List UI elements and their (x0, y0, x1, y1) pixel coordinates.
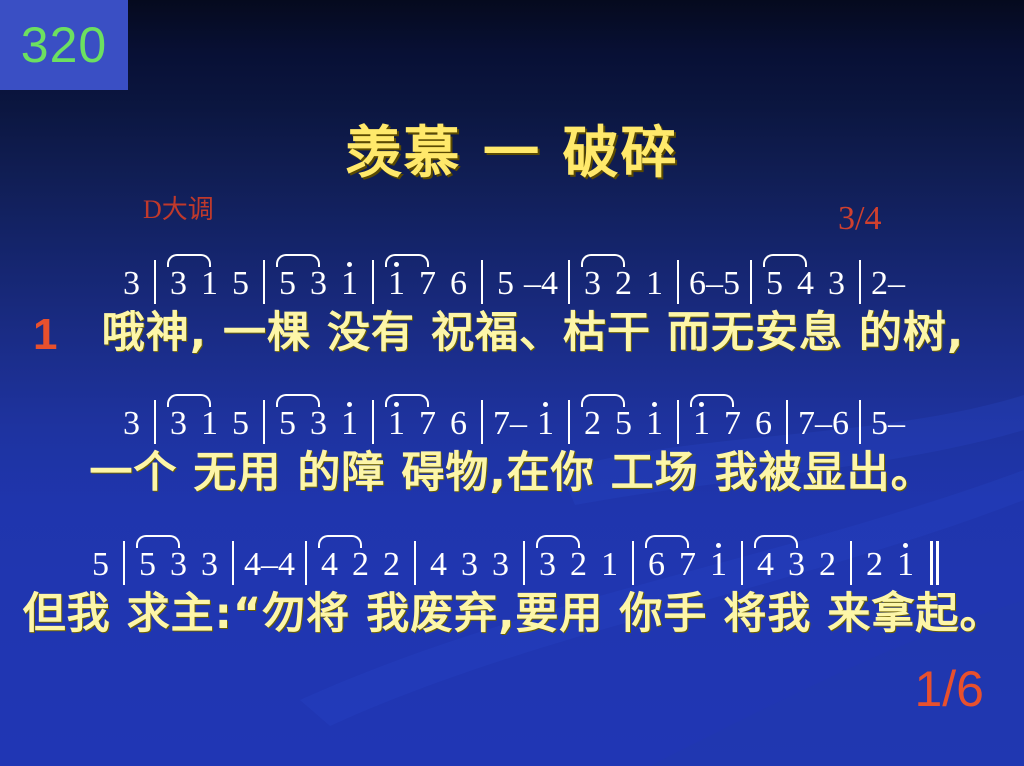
measure: 6–5 (686, 264, 743, 304)
note: 2 (608, 264, 639, 304)
slur-arc (645, 535, 689, 548)
note: 3 (577, 264, 608, 304)
note: 5 (225, 264, 256, 304)
note: 3 (163, 545, 194, 585)
slur-arc (167, 394, 211, 407)
note: 4 (314, 545, 345, 585)
measure: 176 (381, 404, 474, 444)
note-high-octave: 1 (890, 545, 921, 585)
measure: 2– (868, 264, 908, 304)
barline (481, 400, 483, 444)
lyric-row-2: 一个 无用 的障 碍物,在你 工场 我被显出。 (0, 444, 1024, 502)
note: 5 (759, 264, 790, 304)
barline (232, 541, 234, 585)
note: 6 (443, 404, 474, 444)
note: 5 (225, 404, 256, 444)
note-high-octave: 1 (639, 404, 670, 444)
page-title: 羡慕 一 破碎 (0, 108, 1024, 189)
barline (523, 541, 525, 585)
slur-arc (581, 394, 625, 407)
note: 3 (163, 264, 194, 304)
measure: 321 (532, 545, 625, 585)
measure: 176 (686, 404, 779, 444)
barline (372, 400, 374, 444)
slur-arc (536, 535, 580, 548)
note: 4 (423, 545, 454, 585)
measure: 422 (314, 545, 407, 585)
slur-arc (318, 535, 362, 548)
double-barline (927, 541, 939, 585)
slur-arc (136, 535, 180, 548)
note: 3 (116, 264, 147, 304)
music-system-1: 33155311765–43216–55432– 哦神, 一棵 没有 祝福、枯干… (0, 252, 1024, 362)
note: 3 (532, 545, 563, 585)
barline (677, 260, 679, 304)
notation-row-2: 33155311767–12511767–65– (0, 392, 1024, 444)
note: 1 (639, 264, 670, 304)
note: 3 (303, 264, 334, 304)
note: 2 (563, 545, 594, 585)
note: 3 (781, 545, 812, 585)
note: 4 (790, 264, 821, 304)
note: 7–6 (795, 404, 852, 444)
note: 6 (443, 264, 474, 304)
measure: 21 (859, 545, 921, 585)
measure: 433 (423, 545, 516, 585)
time-signature: 3/4 (838, 200, 881, 238)
barline (263, 400, 265, 444)
measure: 176 (381, 264, 474, 304)
barline (677, 400, 679, 444)
barline (850, 541, 852, 585)
note: 6 (748, 404, 779, 444)
hymn-number: 320 (21, 20, 107, 70)
note-high-octave: 1 (703, 545, 734, 585)
lyric-row-1: 哦神, 一棵 没有 祝福、枯干 而无安息 的树, (0, 304, 1024, 362)
hymn-number-badge: 320 (0, 0, 128, 90)
slur-arc (754, 535, 798, 548)
barline (786, 400, 788, 444)
measure: 432 (750, 545, 843, 585)
note: 7 (412, 404, 443, 444)
note: 7 (672, 545, 703, 585)
measure: 251 (577, 404, 670, 444)
measure: 531 (272, 404, 365, 444)
note: 3 (194, 545, 225, 585)
note: 1 (194, 404, 225, 444)
measure: 321 (577, 264, 670, 304)
measure: 7–6 (795, 404, 852, 444)
measure: 4–4 (241, 545, 298, 585)
barline (859, 400, 861, 444)
note: 3 (821, 264, 852, 304)
note: 2 (859, 545, 890, 585)
measure: 315 (163, 404, 256, 444)
barline (632, 541, 634, 585)
slur-arc (763, 254, 807, 267)
barline (568, 400, 570, 444)
measure: 7–1 (490, 404, 561, 444)
note: 7– (490, 404, 530, 444)
slur-arc (385, 254, 429, 267)
note-high-octave: 1 (686, 404, 717, 444)
note: 5 (272, 264, 303, 304)
note-high-octave: 1 (334, 404, 365, 444)
slur-arc (167, 254, 211, 267)
note: 3 (163, 404, 194, 444)
page-indicator: 1/6 (914, 660, 984, 718)
slur-arc (581, 254, 625, 267)
note-high-octave: 1 (334, 264, 365, 304)
barline (568, 260, 570, 304)
note: 2 (577, 404, 608, 444)
note: 5 (490, 264, 521, 304)
barline (154, 260, 156, 304)
lyric-row-3: 但我 求主:“勿将 我废弃,要用 你手 将我 来拿起。 (0, 585, 1024, 643)
barline (414, 541, 416, 585)
note: 6 (641, 545, 672, 585)
slur-arc (690, 394, 734, 407)
note: 7 (412, 264, 443, 304)
measure: 533 (132, 545, 225, 585)
note: 3 (454, 545, 485, 585)
key-signature: D大调 (143, 189, 214, 226)
notation-row-1: 33155311765–43216–55432– (0, 252, 1024, 304)
music-system-2: 33155311767–12511767–65– 一个 无用 的障 碍物,在你 … (0, 392, 1024, 502)
barline (123, 541, 125, 585)
measure: 543 (759, 264, 852, 304)
note-high-octave: 1 (530, 404, 561, 444)
barline (741, 541, 743, 585)
note: 5 (132, 545, 163, 585)
note: 2 (812, 545, 843, 585)
notation-row-3: 55334–442243332167143221 (0, 533, 1024, 585)
note: 4 (750, 545, 781, 585)
barline (263, 260, 265, 304)
slur-arc (385, 394, 429, 407)
slur-arc (276, 394, 320, 407)
note-high-octave: 1 (381, 264, 412, 304)
note: 3 (485, 545, 516, 585)
note-high-octave: 1 (381, 404, 412, 444)
barline (750, 260, 752, 304)
slide-canvas: 320 羡慕 一 破碎 D大调 3/4 1 33155311765–43216–… (0, 0, 1024, 766)
note: 5– (868, 404, 908, 444)
barline (154, 400, 156, 444)
note: 5 (272, 404, 303, 444)
measure: 531 (272, 264, 365, 304)
note: 7 (717, 404, 748, 444)
note: 3 (116, 404, 147, 444)
slur-arc (276, 254, 320, 267)
note: 4–4 (241, 545, 298, 585)
barline (859, 260, 861, 304)
note: 6–5 (686, 264, 743, 304)
music-system-3: 55334–442243332167143221 但我 求主:“勿将 我废弃,要… (0, 533, 1024, 643)
note: 2– (868, 264, 908, 304)
barline (372, 260, 374, 304)
measure: 671 (641, 545, 734, 585)
note: 5 (85, 545, 116, 585)
measure: 5–4 (490, 264, 561, 304)
note: 2 (376, 545, 407, 585)
note: 1 (194, 264, 225, 304)
measure: 315 (163, 264, 256, 304)
measure: 5– (868, 404, 908, 444)
barline (481, 260, 483, 304)
note: –4 (521, 264, 561, 304)
note: 2 (345, 545, 376, 585)
note: 1 (594, 545, 625, 585)
barline (305, 541, 307, 585)
note: 3 (303, 404, 334, 444)
note: 5 (608, 404, 639, 444)
